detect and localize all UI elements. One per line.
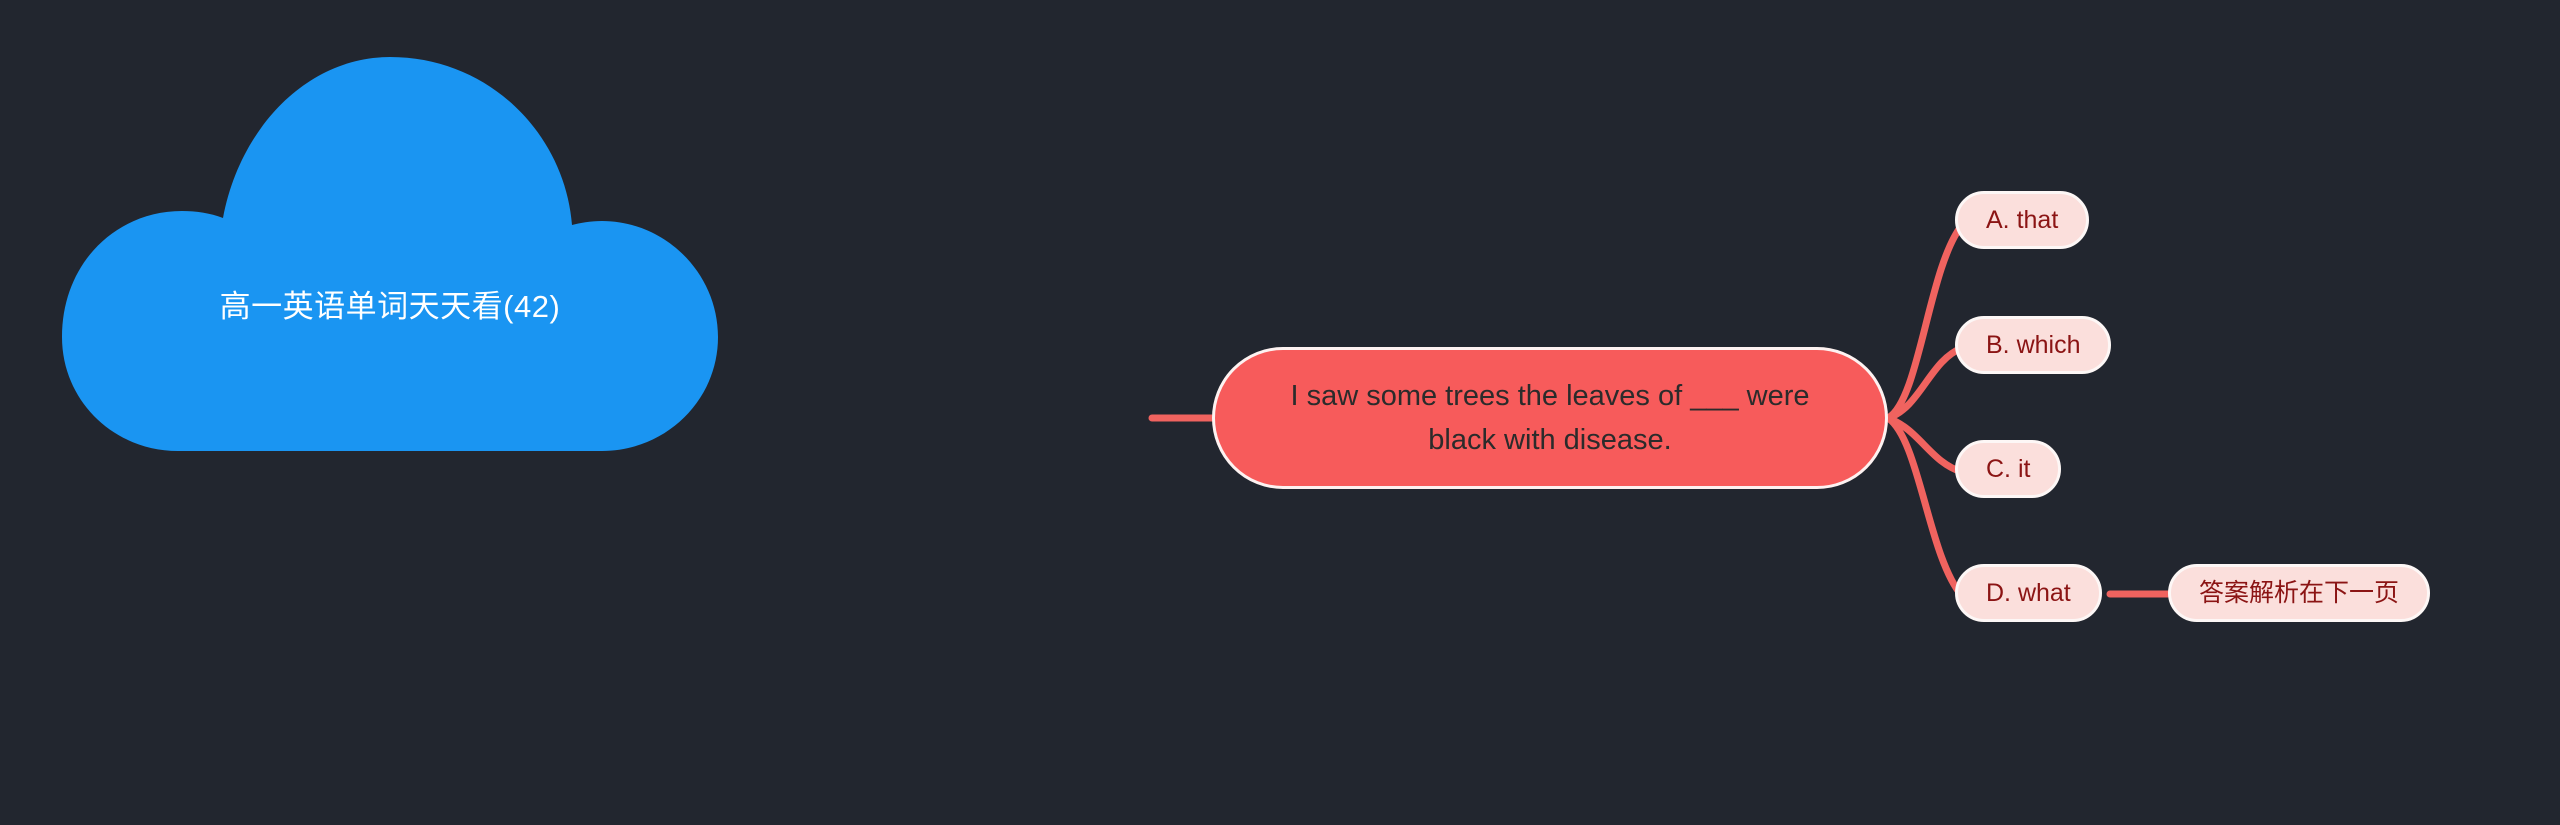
connector-question-to-option-c	[1888, 418, 1962, 472]
answer-hint-label: 答案解析在下一页	[2199, 578, 2399, 608]
option-node-a[interactable]: A. that	[1955, 191, 2089, 249]
question-text: I saw some trees the leaves of ___ were …	[1259, 374, 1841, 462]
option-node-b[interactable]: B. which	[1955, 316, 2111, 374]
connector-question-to-option-a	[1888, 225, 1962, 418]
option-label-c: C. it	[1986, 454, 2030, 484]
answer-hint-node[interactable]: 答案解析在下一页	[2168, 564, 2430, 622]
mind-map-canvas: 高一英语单词天天看(42) I saw some trees the leave…	[0, 0, 2560, 825]
root-node-label: 高一英语单词天天看(42)	[60, 287, 720, 327]
connector-question-to-option-b	[1888, 348, 1962, 418]
cloud-shape-icon	[60, 55, 720, 455]
option-label-a: A. that	[1986, 205, 2058, 235]
option-label-b: B. which	[1986, 330, 2080, 360]
option-node-c[interactable]: C. it	[1955, 440, 2061, 498]
option-node-d[interactable]: D. what	[1955, 564, 2102, 622]
connector-question-to-option-d	[1888, 418, 1962, 596]
root-node-cloud[interactable]: 高一英语单词天天看(42)	[60, 55, 720, 455]
option-label-d: D. what	[1986, 578, 2071, 608]
question-node[interactable]: I saw some trees the leaves of ___ were …	[1212, 347, 1888, 489]
